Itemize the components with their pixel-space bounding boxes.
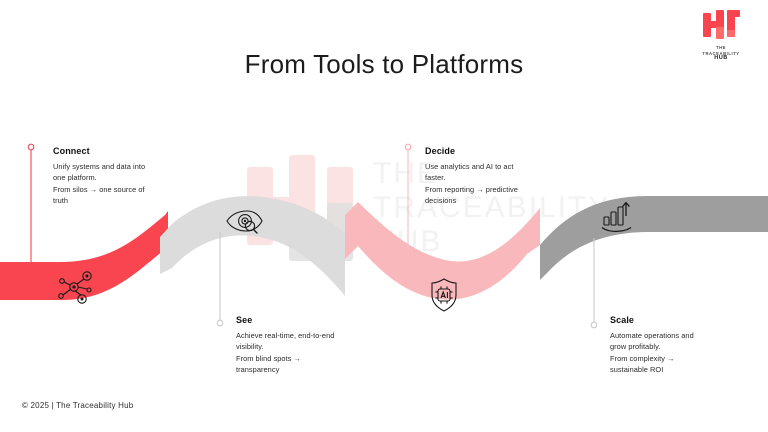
slide-canvas: THE TRACEABILITY HUB	[0, 0, 768, 432]
callout-body-see: Achieve real-time, end-to-end visibility…	[236, 330, 376, 376]
callout-title-see: See	[236, 315, 376, 325]
connector-connect	[20, 140, 44, 270]
callout-connect: Connect Unify systems and data into one …	[53, 146, 193, 207]
callout-title-connect: Connect	[53, 146, 193, 156]
callout-body-decide: Use analytics and AI to act faster. From…	[425, 161, 565, 207]
logo-mark-icon	[699, 10, 743, 40]
eye-magnifier-icon	[227, 211, 262, 233]
shield-ai-icon	[432, 279, 456, 311]
network-nodes-icon	[59, 272, 91, 303]
callout-body-scale: Automate operations and grow profitably.…	[610, 330, 750, 376]
callout-title-decide: Decide	[425, 146, 565, 156]
callout-decide: Decide Use analytics and AI to act faste…	[425, 146, 565, 207]
ribbon-segment-decide	[345, 202, 540, 300]
connector-see	[209, 232, 233, 330]
page-title: From Tools to Platforms	[0, 49, 768, 80]
callout-see: See Achieve real-time, end-to-end visibi…	[236, 315, 376, 376]
ribbon-segment-connect	[0, 211, 168, 300]
connector-decide	[397, 140, 421, 280]
growth-chart-icon	[602, 203, 631, 232]
footer-copyright: © 2025 | The Traceability Hub	[22, 401, 133, 410]
ribbon-segment-see	[160, 196, 358, 296]
ribbon-segment-scale	[540, 196, 768, 280]
callout-scale: Scale Automate operations and grow profi…	[610, 315, 750, 376]
connector-scale	[583, 238, 607, 334]
callout-body-connect: Unify systems and data into one platform…	[53, 161, 193, 207]
callout-title-scale: Scale	[610, 315, 750, 325]
